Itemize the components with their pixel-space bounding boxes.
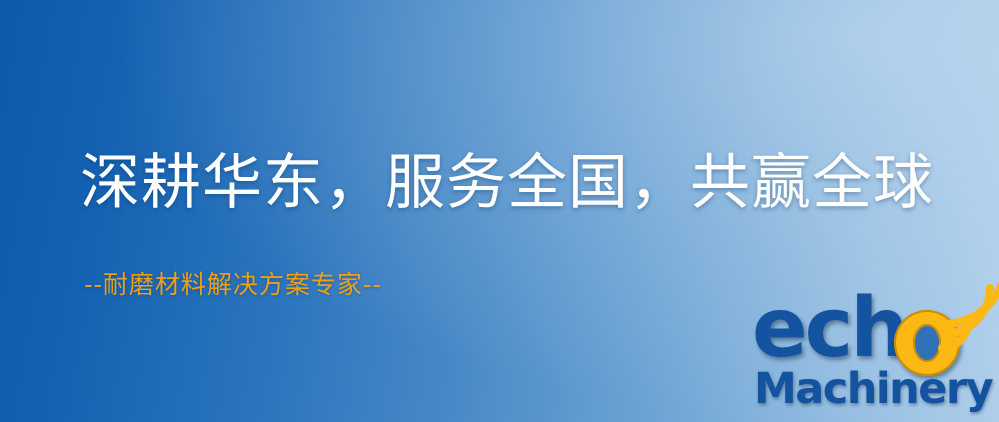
logo-signal-waves-icon — [934, 286, 999, 356]
logo-wordmark: ech Machinery ® — [748, 292, 999, 374]
page-subtitle: --耐磨材料解决方案专家-- — [84, 265, 382, 301]
logo-text-ech: ech — [752, 288, 906, 370]
page-title: 深耕华东，服务全国，共赢全球 — [80, 150, 934, 217]
logo-secondary-row: Machinery ® — [754, 366, 999, 412]
promo-banner: 深耕华东，服务全国，共赢全球 --耐磨材料解决方案专家-- ech Machin… — [0, 0, 999, 422]
company-logo: ech Machinery ® — [748, 292, 999, 422]
logo-text-machinery: Machinery — [754, 366, 992, 412]
